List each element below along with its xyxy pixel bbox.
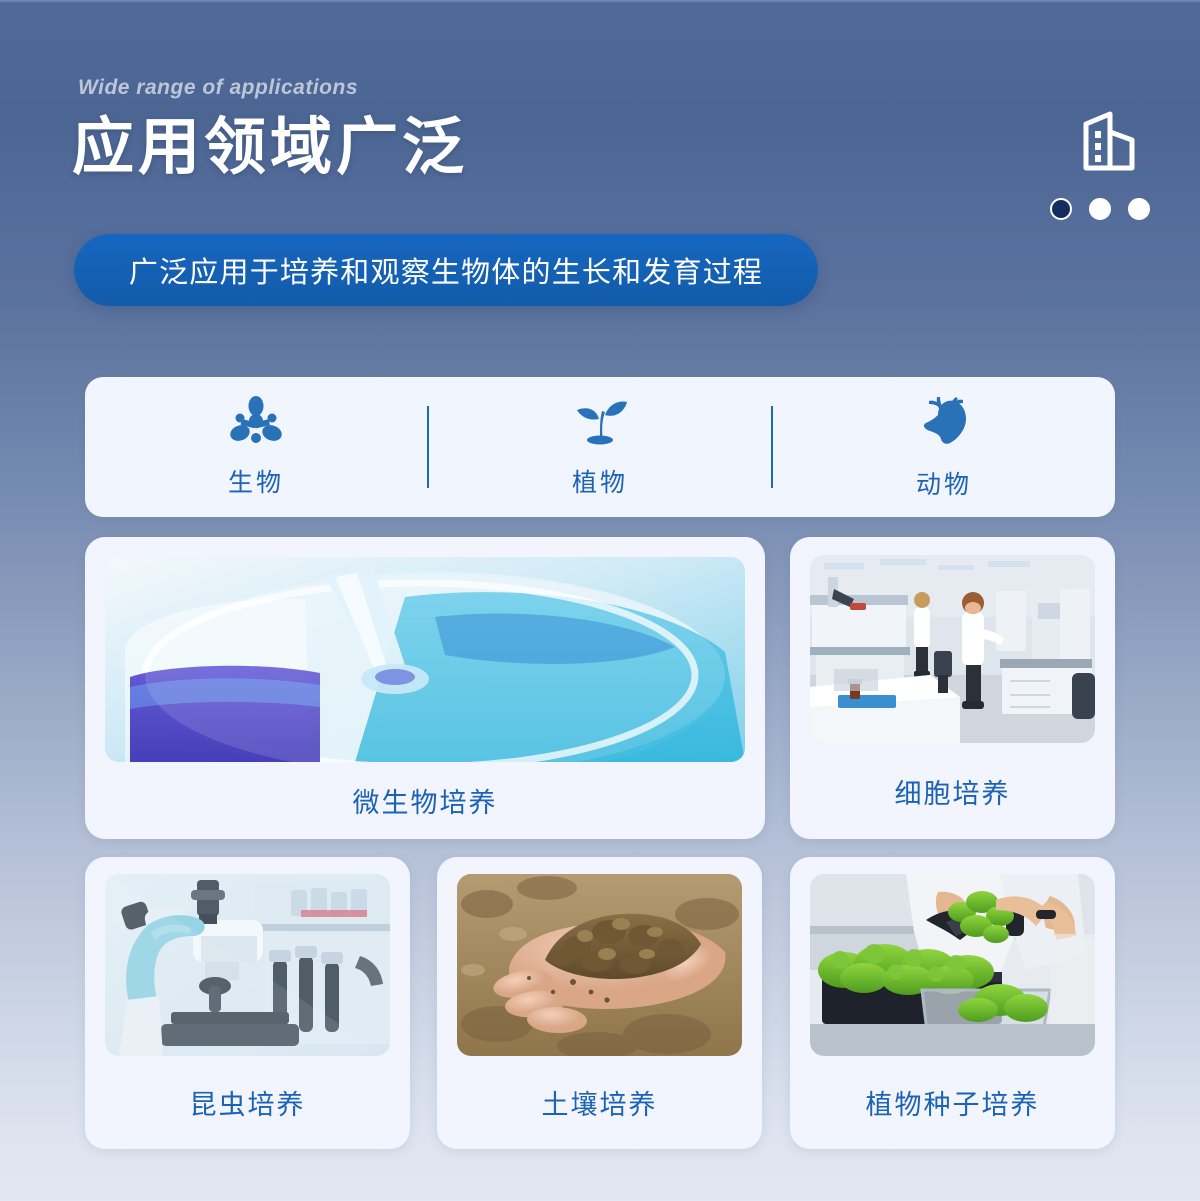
card-microbial-culture[interactable]: 微生物培养	[85, 537, 765, 839]
hand-holding-soil-photo	[457, 874, 742, 1056]
pagination-dot-2[interactable]	[1089, 198, 1111, 220]
sprout-icon	[569, 395, 631, 447]
top-highlight-line	[0, 0, 1200, 3]
card-caption: 土壤培养	[542, 1056, 658, 1149]
tagline-text: 广泛应用于培养和观察生物体的生长和发育过程	[129, 249, 763, 291]
card-cell-culture[interactable]: 细胞培养	[790, 537, 1115, 839]
card-insect-culture[interactable]: 昆虫培养	[85, 857, 410, 1149]
pagination-dots[interactable]	[1050, 198, 1150, 220]
category-item-plant[interactable]: 植物	[429, 395, 771, 499]
page-title: 应用领域广泛	[72, 112, 468, 183]
card-plant-seed-culture[interactable]: 植物种子培养	[790, 857, 1115, 1149]
category-item-animal[interactable]: 动物	[773, 393, 1115, 501]
seedling-trays-photo	[810, 874, 1095, 1056]
category-strip: 生物 植物 动物	[85, 377, 1115, 517]
category-label: 植物	[572, 463, 628, 499]
microscope-gloved-hand-photo	[105, 874, 390, 1056]
pagination-dot-1[interactable]	[1050, 198, 1072, 220]
card-caption: 植物种子培养	[866, 1056, 1040, 1149]
card-caption: 昆虫培养	[190, 1056, 306, 1149]
card-soil-culture[interactable]: 土壤培养	[437, 857, 762, 1149]
tagline-banner: 广泛应用于培养和观察生物体的生长和发育过程	[74, 234, 818, 306]
eyebrow-text: Wide range of applications	[78, 76, 358, 100]
category-label: 生物	[228, 463, 284, 499]
building-icon	[1076, 110, 1142, 172]
card-caption: 细胞培养	[895, 743, 1011, 839]
molecule-icon	[227, 395, 285, 447]
card-caption: 微生物培养	[353, 762, 498, 839]
category-label: 动物	[916, 465, 972, 501]
laboratory-interior-photo	[810, 555, 1095, 743]
deer-icon	[916, 393, 972, 449]
pagination-dot-3[interactable]	[1128, 198, 1150, 220]
category-item-biology[interactable]: 生物	[85, 395, 427, 499]
petri-dish-pipette-photo	[105, 557, 745, 762]
